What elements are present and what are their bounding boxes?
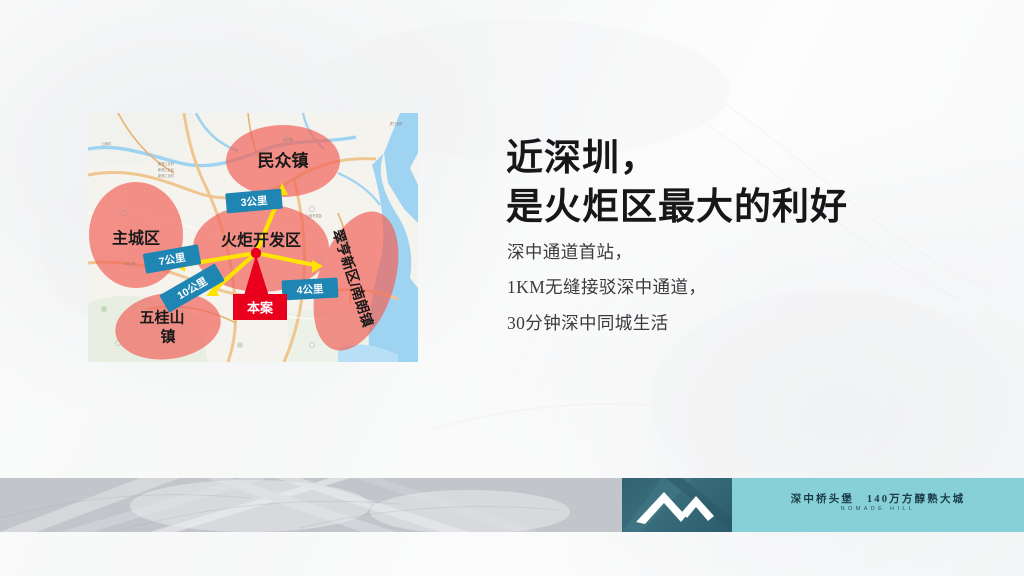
location-map-image: 上海村 新港工业村 新港工业区 新港工业村 中山市 火炬开发区 南朗 民众镇 虎…	[88, 113, 418, 362]
map-label-wuguishan-2: 镇	[160, 328, 175, 346]
svg-text:本案: 本案	[247, 301, 274, 316]
footer-logo-box	[622, 478, 732, 532]
svg-text:虎门大桥: 虎门大桥	[390, 121, 404, 126]
svg-text:火炬开发区: 火炬开发区	[306, 213, 323, 218]
svg-text:4公里: 4公里	[296, 283, 324, 296]
subtext-block: 深中通道首站， 1KM无缝接驳深中通道， 30分钟深中同城生活	[507, 235, 977, 341]
svg-text:新港工业村: 新港工业村	[158, 173, 175, 178]
slide-canvas: 上海村 新港工业村 新港工业区 新港工业村 中山市 火炬开发区 南朗 民众镇 虎…	[0, 0, 1024, 576]
mountain-peak-icon	[622, 478, 732, 532]
svg-text:新港工业村: 新港工业村	[158, 161, 175, 166]
footer-abstract-image	[0, 478, 622, 532]
map-label-minzhong: 民众镇	[258, 151, 309, 171]
headline-block: 近深圳， 是火炬区最大的利好	[506, 134, 976, 232]
svg-text:3公里: 3公里	[240, 195, 268, 209]
footer-brand-en: NOMADE HILL	[732, 506, 1024, 512]
map-label-huoju: 火炬开发区	[221, 231, 301, 250]
badge-4km: 4公里	[282, 278, 339, 301]
svg-text:新港工业区: 新港工业区	[158, 167, 175, 172]
svg-text:上海村: 上海村	[101, 141, 111, 146]
svg-text:民众镇: 民众镇	[283, 137, 293, 142]
headline-line-1: 近深圳，	[506, 134, 976, 183]
map-site-label: 本案	[233, 294, 287, 320]
subtext-line-2: 1KM无缝接驳深中通道，	[507, 270, 977, 305]
subtext-line-1: 深中通道首站，	[507, 235, 977, 270]
subtext-line-3: 30分钟深中同城生活	[507, 306, 977, 341]
map-label-wuguishan-1: 五桂山	[139, 309, 184, 327]
footer-band: 深中桥头堡 140万方醇熟大城 NOMADE HILL	[0, 478, 1024, 532]
footer-brand-cn: 深中桥头堡 140万方醇熟大城	[732, 491, 1024, 506]
map-label-zhuchengqu: 主城区	[112, 229, 160, 248]
svg-text:中山市: 中山市	[125, 261, 135, 266]
headline-line-2: 是火炬区最大的利好	[506, 183, 976, 232]
